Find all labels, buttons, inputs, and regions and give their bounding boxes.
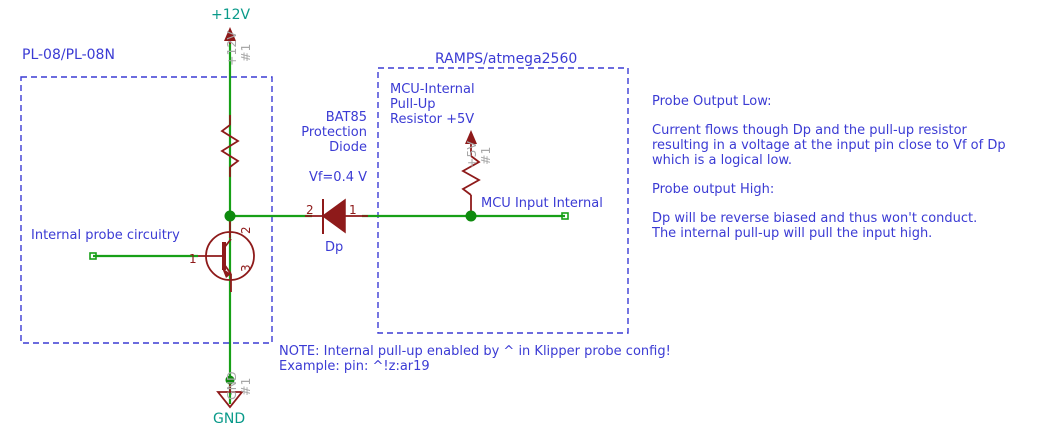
explanation-low-line-1: Current flows though Dp and the pull-up … <box>652 123 967 139</box>
mcu-input-label: MCU Input Internal <box>481 196 603 212</box>
explanation-high-line-1: Dp will be reverse biased and thus won't… <box>652 211 977 227</box>
transistor-pin-2-label: 2 <box>239 226 254 234</box>
left-block-title: PL-08/PL-08N <box>22 47 115 64</box>
explanation-low-line-2: resulting in a voltage at the input pin … <box>652 138 1006 154</box>
transistor-pin-3-label: 3 <box>239 264 254 272</box>
probe-pullup-resistor <box>222 115 238 177</box>
explanation-high-line-2: The internal pull-up will pull the input… <box>652 226 932 242</box>
explanation-heading-high: Probe output High: <box>652 182 774 198</box>
diode-vf-label: Vf=0.4 V <box>288 170 367 186</box>
diode-refdes: Dp <box>325 240 343 256</box>
protection-diode-symbol <box>305 199 368 234</box>
schematic-canvas: +12V +12V #1 PL-08/PL-08N RAMPS/atmega25… <box>0 0 1058 439</box>
diode-label-line1: BAT85 <box>288 110 367 126</box>
mcu-pullup-line1: MCU-Internal <box>390 82 475 98</box>
gnd-symbol-label: GND <box>224 371 239 400</box>
vcc-5v-symbol-ref: #1 <box>478 147 493 165</box>
diode-pin-2-label: 2 <box>306 203 314 218</box>
note-line-1: NOTE: Internal pull-up enabled by ^ in K… <box>279 344 671 360</box>
right-block-title: RAMPS/atmega2560 <box>435 51 577 68</box>
gnd-symbol-ref: #1 <box>238 378 253 396</box>
junction-node-probe <box>225 211 236 222</box>
left-block-boundary <box>21 77 272 343</box>
vcc-5v-symbol-label: +5V <box>464 141 479 168</box>
vcc-12v-symbol-label: +12V <box>224 31 239 66</box>
vcc-12v-symbol-ref: #1 <box>238 44 253 62</box>
vcc-12v-label: +12V <box>211 7 250 24</box>
diode-pin-1-label: 1 <box>349 203 357 218</box>
gnd-label: GND <box>213 411 245 428</box>
probe-wire-label: Internal probe circuitry <box>31 228 180 244</box>
diode-label-line2: Protection <box>288 125 367 141</box>
junction-node-mcu <box>466 211 477 222</box>
explanation-low-line-3: which is a logical low. <box>652 153 792 169</box>
diode-label-line3: Diode <box>288 140 367 156</box>
transistor-pin-1-label: 1 <box>189 252 197 267</box>
mcu-pullup-line2: Pull-Up <box>390 97 436 113</box>
note-line-2: Example: pin: ^!z:ar19 <box>279 359 430 375</box>
explanation-heading-low: Probe Output Low: <box>652 94 772 110</box>
mcu-pullup-line3: Resistor +5V <box>390 112 474 128</box>
